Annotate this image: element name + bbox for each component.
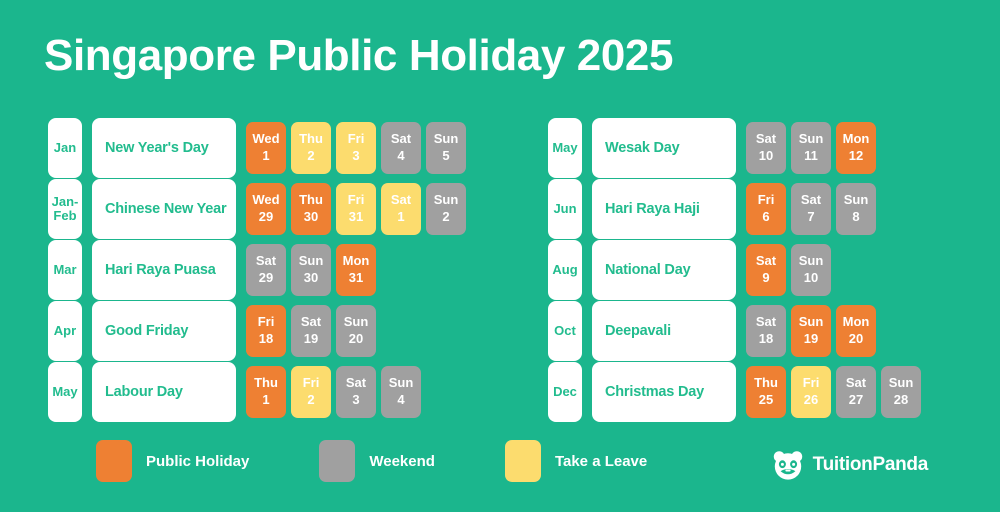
day-name: Wed xyxy=(252,131,279,148)
day-chip-weekend: Sat10 xyxy=(746,122,786,174)
day-date: 1 xyxy=(262,148,269,165)
day-name: Sun xyxy=(389,375,414,392)
day-date: 18 xyxy=(259,331,273,348)
day-name: Sat xyxy=(391,131,411,148)
day-chip-group: Wed29Thu30Fri31Sat1Sun2 xyxy=(246,183,471,235)
day-date: 27 xyxy=(849,392,863,409)
day-chip-weekend: Sun4 xyxy=(381,366,421,418)
day-date: 5 xyxy=(442,148,449,165)
day-chip-holiday: Thu25 xyxy=(746,366,786,418)
day-date: 3 xyxy=(352,392,359,409)
day-chip-group: Thu1Fri2Sat3Sun4 xyxy=(246,366,426,418)
day-name: Sun xyxy=(434,131,459,148)
day-chip-weekend: Sun5 xyxy=(426,122,466,174)
day-chip-leave: Fri3 xyxy=(336,122,376,174)
holiday-name-cell: Deepavali xyxy=(592,301,736,361)
holiday-row: DecChristmas DayThu25Fri26Sat27Sun28 xyxy=(548,362,1000,422)
day-name: Fri xyxy=(803,375,820,392)
day-chip-weekend: Sun11 xyxy=(791,122,831,174)
month-cell: Jun xyxy=(548,179,582,239)
day-date: 2 xyxy=(442,209,449,226)
day-chip-weekend: Sat18 xyxy=(746,305,786,357)
holiday-row: Jan- FebChinese New YearWed29Thu30Fri31S… xyxy=(48,179,518,239)
day-chip-weekend: Sat3 xyxy=(336,366,376,418)
holiday-row: JunHari Raya HajiFri6Sat7Sun8 xyxy=(548,179,1000,239)
legend-item: Public Holiday xyxy=(96,440,249,482)
day-date: 2 xyxy=(307,148,314,165)
day-date: 8 xyxy=(852,209,859,226)
day-date: 29 xyxy=(259,270,273,287)
holiday-row: AugNational DaySat9Sun10 xyxy=(548,240,1000,300)
day-chip-group: Thu25Fri26Sat27Sun28 xyxy=(746,366,926,418)
page-title: Singapore Public Holiday 2025 xyxy=(44,34,673,78)
day-date: 26 xyxy=(804,392,818,409)
holiday-column-left: JanNew Year's DayWed1Thu2Fri3Sat4Sun5Jan… xyxy=(48,118,518,422)
holiday-name-cell: New Year's Day xyxy=(92,118,236,178)
day-chip-group: Sat10Sun11Mon12 xyxy=(746,122,881,174)
month-cell: May xyxy=(48,362,82,422)
day-name: Sun xyxy=(799,131,824,148)
day-date: 12 xyxy=(849,148,863,165)
day-date: 30 xyxy=(304,209,318,226)
day-chip-weekend: Sun2 xyxy=(426,183,466,235)
day-name: Sat xyxy=(346,375,366,392)
brand-logo[interactable]: TuitionPanda xyxy=(771,448,928,482)
day-name: Fri xyxy=(348,192,365,209)
day-chip-group: Sat9Sun10 xyxy=(746,244,836,296)
day-chip-holiday: Thu30 xyxy=(291,183,331,235)
day-name: Sat xyxy=(391,192,411,209)
legend-swatch-leave xyxy=(505,440,541,482)
day-name: Sun xyxy=(434,192,459,209)
day-date: 20 xyxy=(349,331,363,348)
day-name: Wed xyxy=(252,192,279,209)
legend-label: Public Holiday xyxy=(146,453,249,470)
month-cell: Dec xyxy=(548,362,582,422)
day-date: 6 xyxy=(762,209,769,226)
month-cell: Jan- Feb xyxy=(48,179,82,239)
day-chip-weekend: Sun28 xyxy=(881,366,921,418)
legend: Public HolidayWeekendTake a Leave xyxy=(96,440,717,482)
day-chip-holiday: Mon31 xyxy=(336,244,376,296)
day-name: Sun xyxy=(299,253,324,270)
day-name: Sun xyxy=(889,375,914,392)
day-chip-weekend: Sat7 xyxy=(791,183,831,235)
holiday-row: OctDeepavaliSat18Sun19Mon20 xyxy=(548,301,1000,361)
day-name: Sat xyxy=(301,314,321,331)
day-name: Sun xyxy=(844,192,869,209)
day-chip-weekend: Sun10 xyxy=(791,244,831,296)
brand-name: TuitionPanda xyxy=(813,454,928,476)
holiday-name-cell: Hari Raya Puasa xyxy=(92,240,236,300)
holiday-row: JanNew Year's DayWed1Thu2Fri3Sat4Sun5 xyxy=(48,118,518,178)
day-chip-holiday: Mon12 xyxy=(836,122,876,174)
month-cell: Mar xyxy=(48,240,82,300)
day-chip-weekend: Sat27 xyxy=(836,366,876,418)
day-name: Sat xyxy=(846,375,866,392)
holiday-name-cell: National Day xyxy=(592,240,736,300)
day-chip-leave: Fri26 xyxy=(791,366,831,418)
day-name: Sun xyxy=(344,314,369,331)
day-date: 10 xyxy=(759,148,773,165)
day-date: 30 xyxy=(304,270,318,287)
day-date: 1 xyxy=(262,392,269,409)
day-date: 25 xyxy=(759,392,773,409)
holiday-name-cell: Chinese New Year xyxy=(92,179,236,239)
day-name: Thu xyxy=(754,375,778,392)
day-date: 10 xyxy=(804,270,818,287)
day-date: 20 xyxy=(849,331,863,348)
month-cell: May xyxy=(548,118,582,178)
day-date: 2 xyxy=(307,392,314,409)
day-chip-holiday: Fri6 xyxy=(746,183,786,235)
day-name: Mon xyxy=(343,253,370,270)
day-chip-holiday: Mon20 xyxy=(836,305,876,357)
day-date: 31 xyxy=(349,270,363,287)
legend-item: Weekend xyxy=(319,440,435,482)
holiday-name-cell: Hari Raya Haji xyxy=(592,179,736,239)
day-name: Fri xyxy=(348,131,365,148)
day-date: 11 xyxy=(804,148,818,165)
legend-swatch-holiday xyxy=(96,440,132,482)
day-date: 18 xyxy=(759,331,773,348)
day-chip-holiday: Wed1 xyxy=(246,122,286,174)
day-chip-holiday: Fri18 xyxy=(246,305,286,357)
holiday-name-cell: Labour Day xyxy=(92,362,236,422)
day-date: 29 xyxy=(259,209,273,226)
day-name: Thu xyxy=(299,131,323,148)
holiday-name-cell: Good Friday xyxy=(92,301,236,361)
legend-swatch-weekend xyxy=(319,440,355,482)
day-name: Sat xyxy=(756,253,776,270)
day-date: 31 xyxy=(349,209,363,226)
day-name: Thu xyxy=(299,192,323,209)
day-chip-group: Sat18Sun19Mon20 xyxy=(746,305,881,357)
day-chip-weekend: Sat19 xyxy=(291,305,331,357)
day-chip-weekend: Sun8 xyxy=(836,183,876,235)
day-chip-weekend: Sat4 xyxy=(381,122,421,174)
day-name: Sat xyxy=(756,131,776,148)
day-chip-holiday: Thu1 xyxy=(246,366,286,418)
month-cell: Apr xyxy=(48,301,82,361)
day-chip-holiday: Wed29 xyxy=(246,183,286,235)
day-chip-group: Sat29Sun30Mon31 xyxy=(246,244,381,296)
day-name: Fri xyxy=(258,314,275,331)
month-cell: Jan xyxy=(48,118,82,178)
day-chip-group: Fri18Sat19Sun20 xyxy=(246,305,381,357)
holiday-row: AprGood FridayFri18Sat19Sun20 xyxy=(48,301,518,361)
holiday-row: MayWesak DaySat10Sun11Mon12 xyxy=(548,118,1000,178)
holiday-column-right: MayWesak DaySat10Sun11Mon12JunHari Raya … xyxy=(548,118,1000,422)
day-chip-holiday: Sun19 xyxy=(791,305,831,357)
day-name: Sun xyxy=(799,314,824,331)
day-name: Sat xyxy=(801,192,821,209)
holiday-row: MarHari Raya PuasaSat29Sun30Mon31 xyxy=(48,240,518,300)
legend-label: Take a Leave xyxy=(555,453,647,470)
day-chip-weekend: Sun30 xyxy=(291,244,331,296)
holiday-row: MayLabour DayThu1Fri2Sat3Sun4 xyxy=(48,362,518,422)
day-chip-leave: Sat1 xyxy=(381,183,421,235)
day-name: Thu xyxy=(254,375,278,392)
legend-item: Take a Leave xyxy=(505,440,647,482)
day-name: Sat xyxy=(756,314,776,331)
day-date: 28 xyxy=(894,392,908,409)
holiday-name-cell: Wesak Day xyxy=(592,118,736,178)
day-date: 9 xyxy=(762,270,769,287)
day-date: 4 xyxy=(397,148,404,165)
legend-label: Weekend xyxy=(369,453,435,470)
month-cell: Aug xyxy=(548,240,582,300)
day-name: Sun xyxy=(799,253,824,270)
day-date: 7 xyxy=(807,209,814,226)
day-name: Mon xyxy=(843,131,870,148)
day-chip-group: Wed1Thu2Fri3Sat4Sun5 xyxy=(246,122,471,174)
day-date: 4 xyxy=(397,392,404,409)
day-date: 19 xyxy=(804,331,818,348)
holiday-name-cell: Christmas Day xyxy=(592,362,736,422)
day-name: Fri xyxy=(303,375,320,392)
day-chip-group: Fri6Sat7Sun8 xyxy=(746,183,881,235)
day-chip-leave: Thu2 xyxy=(291,122,331,174)
day-date: 3 xyxy=(352,148,359,165)
day-chip-weekend: Sat29 xyxy=(246,244,286,296)
day-name: Mon xyxy=(843,314,870,331)
day-name: Fri xyxy=(758,192,775,209)
day-chip-leave: Fri31 xyxy=(336,183,376,235)
day-chip-leave: Fri2 xyxy=(291,366,331,418)
day-chip-holiday: Sat9 xyxy=(746,244,786,296)
day-name: Sat xyxy=(256,253,276,270)
month-cell: Oct xyxy=(548,301,582,361)
day-date: 1 xyxy=(397,209,404,226)
day-date: 19 xyxy=(304,331,318,348)
panda-icon xyxy=(771,448,805,482)
day-chip-weekend: Sun20 xyxy=(336,305,376,357)
